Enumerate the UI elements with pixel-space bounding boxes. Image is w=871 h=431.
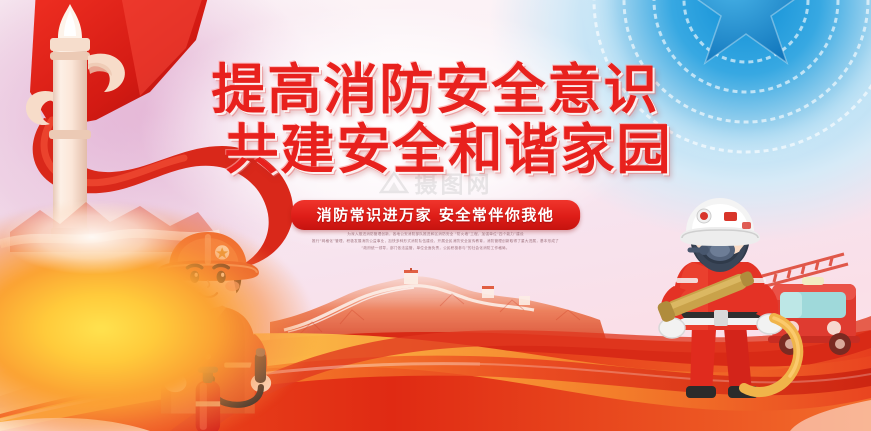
subtitle-text: 消防常识进万家 安全常伴你我他 [317, 206, 555, 224]
headline-line-1: 提高消防安全意识 [0, 62, 871, 118]
white-mist-left [0, 185, 230, 280]
headline-block: 提高消防安全意识 共建安全和谐家园 [0, 62, 871, 178]
headline-line-2: 共建安全和谐家园 [0, 122, 871, 178]
body-line: 推行“网格化”管理，积极发展消防公益事业，加快多种形式消防队伍建设，开展全民消防… [226, 239, 646, 244]
fire-safety-poster: 摄图网 提高消防安全意识 共建安全和谐家园 消防常识进万家 安全常伴你我他 为深… [0, 0, 871, 431]
body-line: 为深入推进消防管理创新，各地公安消防部队推进和区消防安全 “防火墙”工程，加强单… [226, 232, 646, 237]
body-text-block: 为深入推进消防管理创新，各地公安消防部队推进和区消防安全 “防火墙”工程，加强单… [226, 232, 646, 254]
body-line: “政府统一领导，部门依法监管，单位全面负责，公民积极参与”的社会化消防工作格局。 [226, 246, 646, 251]
subtitle-banner: 消防常识进万家 安全常伴你我他 [291, 200, 581, 230]
